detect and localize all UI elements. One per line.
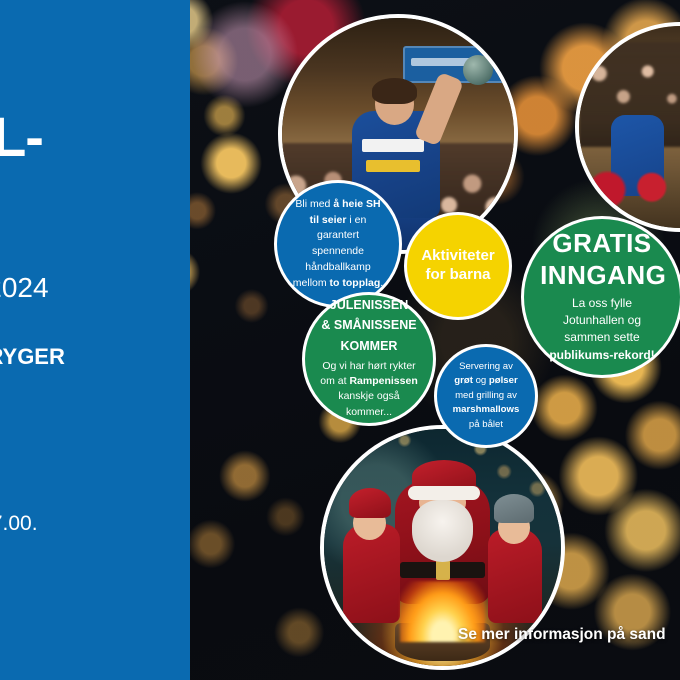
description-line: g og	[0, 443, 38, 476]
free-entry-bubble-text: GRATIS INNGANG La oss fylle Jotunhallen …	[540, 230, 664, 364]
description-line: est med	[0, 410, 38, 443]
santa-heading-2: & SMÅNISSENE	[319, 318, 419, 333]
santa-belt	[400, 562, 485, 579]
activities-bubble-text: Aktiviteter for barna	[419, 247, 496, 285]
food-bubble-text: Servering av grøt og pølser med grilling…	[449, 360, 523, 432]
footer-info-text: Se mer informasjon på sand	[458, 626, 666, 644]
free-entry-heading-2: INNGANG	[540, 262, 664, 289]
description-line: og store	[0, 475, 38, 508]
child-right	[488, 529, 543, 624]
santa-beard	[412, 500, 474, 562]
player-hair	[372, 78, 416, 104]
left-info-panel: BALL- ber 2024 ball - RYGER est medg ogo…	[0, 0, 190, 680]
child-left	[343, 524, 400, 624]
child-right-hat	[494, 494, 534, 522]
santa-heading-1: JULENISSEN	[319, 298, 419, 313]
santa-bubble: JULENISSEN & SMÅNISSENE KOMMER Og vi har…	[302, 292, 436, 426]
santa-body-text: Og vi har hørt rykter om at Rampenissen …	[320, 360, 417, 418]
match-bubble: Bli med å heie SH til seier i en garante…	[274, 180, 402, 308]
free-entry-body: La oss fylle Jotunhallen og sammen sette…	[549, 296, 654, 362]
free-entry-heading-1: GRATIS	[540, 230, 664, 257]
event-subtitle: ball - RYGER	[0, 344, 65, 370]
food-bubble: Servering av grøt og pølser med grilling…	[434, 344, 538, 448]
activities-bubble: Aktiviteter for barna	[404, 212, 512, 320]
event-description: est medg ogog storeart kl. 17.00.	[0, 410, 38, 540]
free-entry-bubble: GRATIS INNGANG La oss fylle Jotunhallen …	[521, 216, 680, 378]
team-and-kids-photo	[575, 22, 680, 232]
poster-root: Bli med å heie SH til seier i en garante…	[0, 0, 680, 680]
santa-bubble-text: JULENISSEN & SMÅNISSENE KOMMER Og vi har…	[319, 298, 419, 420]
kids-in-red	[579, 143, 680, 228]
page-title: BALL-	[0, 108, 210, 167]
child-left-hat	[349, 488, 391, 518]
santa-heading-3: KOMMER	[319, 339, 419, 354]
match-bubble-text: Bli med å heie SH til seier i en garante…	[291, 197, 386, 292]
activities-line-2: for barna	[425, 266, 490, 283]
activities-line-1: Aktiviteter	[421, 247, 494, 264]
description-line: art kl. 17.00.	[0, 508, 38, 541]
santa-hat	[412, 460, 476, 493]
event-date: ber 2024	[0, 272, 49, 304]
